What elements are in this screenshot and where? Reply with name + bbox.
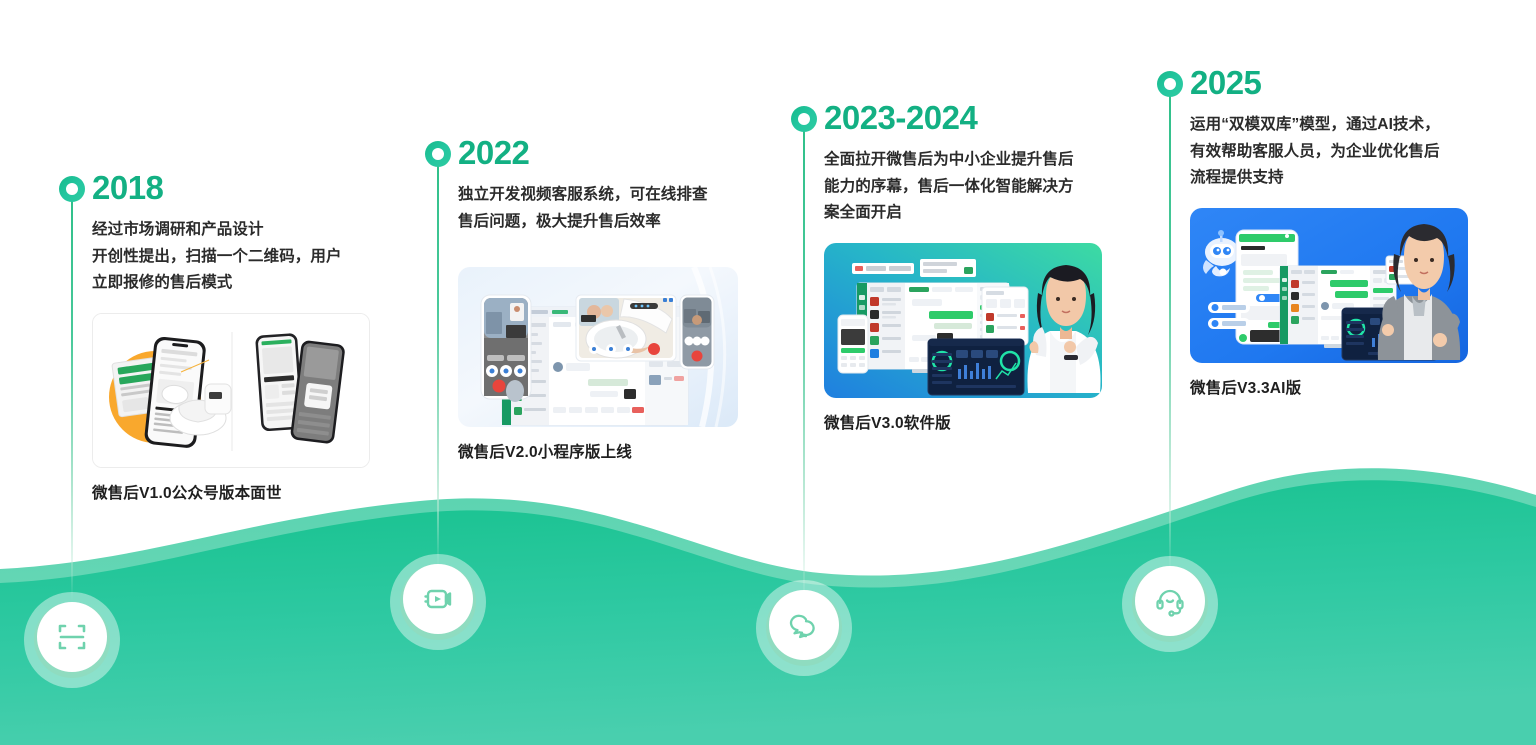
desc-line: 全面拉开微售后为中小企业提升售后 [824, 147, 1114, 174]
bottom-icon-video[interactable] [400, 564, 476, 640]
desc-line: 流程提供支持 [1190, 165, 1480, 192]
desc-line: 经过市场调研和产品设计 [92, 217, 382, 244]
timeline-marker-2025[interactable] [1157, 71, 1183, 97]
desc-line: 开创性提出，扫描一个二维码，用户 [92, 244, 382, 271]
milestone-2025: 2025 运用“双模双库”模型，通过AI技术， 有效帮助客服人员，为企业优化售后… [1190, 66, 1480, 398]
desc-line: 独立开发视频客服系统，可在线排查 [458, 182, 748, 209]
milestone-image-2022[interactable] [458, 267, 738, 427]
icon-disc [769, 590, 839, 660]
chat-bubbles-icon [787, 608, 821, 642]
milestone-year: 2025 [1190, 66, 1480, 99]
desc-line: 能力的序幕，售后一体化智能解决方 [824, 174, 1114, 201]
desc-line: 有效帮助客服人员，为企业优化售后 [1190, 139, 1480, 166]
icon-disc [1135, 566, 1205, 636]
milestone-caption: 微售后V3.0软件版 [824, 411, 1114, 433]
milestone-image-2018[interactable] [92, 313, 370, 468]
bottom-icon-scan[interactable] [34, 602, 110, 678]
timeline-connector-2022 [437, 161, 439, 569]
bottom-icon-chat[interactable] [766, 590, 842, 666]
timeline-marker-2018[interactable] [59, 176, 85, 202]
milestone-2022: 2022 独立开发视频客服系统，可在线排查 售后问题，极大提升售后效率 [458, 136, 748, 462]
milestone-description: 经过市场调研和产品设计 开创性提出，扫描一个二维码，用户 立即报修的售后模式 [92, 217, 382, 297]
scan-icon [55, 620, 89, 654]
milestone-year: 2018 [92, 171, 382, 204]
milestone-description: 全面拉开微售后为中小企业提升售后 能力的序幕，售后一体化智能解决方 案全面开启 [824, 147, 1114, 227]
desc-line: 立即报修的售后模式 [92, 270, 382, 297]
video-camera-icon [421, 582, 455, 616]
timeline-infographic: 2018 经过市场调研和产品设计 开创性提出，扫描一个二维码，用户 立即报修的售… [0, 0, 1536, 745]
desc-line: 案全面开启 [824, 200, 1114, 227]
desc-line: 售后问题，极大提升售后效率 [458, 209, 748, 236]
milestone-2018: 2018 经过市场调研和产品设计 开创性提出，扫描一个二维码，用户 立即报修的售… [92, 171, 382, 503]
timeline-marker-2023[interactable] [791, 106, 817, 132]
milestone-caption: 微售后V1.0公众号版本面世 [92, 481, 382, 503]
icon-disc [403, 564, 473, 634]
desc-line: 运用“双模双库”模型，通过AI技术， [1190, 112, 1480, 139]
milestone-image-2023[interactable] [824, 243, 1102, 398]
timeline-connector-2018 [71, 196, 73, 601]
milestone-year: 2022 [458, 136, 748, 169]
milestone-2023-2024: 2023-2024 全面拉开微售后为中小企业提升售后 能力的序幕，售后一体化智能… [824, 101, 1114, 433]
milestone-caption: 微售后V2.0小程序版上线 [458, 440, 748, 462]
milestone-image-2025[interactable] [1190, 208, 1468, 363]
milestone-caption: 微售后V3.3AI版 [1190, 376, 1480, 398]
timeline-marker-2022[interactable] [425, 141, 451, 167]
headset-support-icon [1153, 584, 1187, 618]
icon-disc [37, 602, 107, 672]
bottom-icon-support[interactable] [1132, 566, 1208, 642]
timeline-connector-2023 [803, 126, 805, 606]
timeline-connector-2025 [1169, 91, 1171, 575]
milestone-description: 运用“双模双库”模型，通过AI技术， 有效帮助客服人员，为企业优化售后 流程提供… [1190, 112, 1480, 192]
milestone-description: 独立开发视频客服系统，可在线排查 售后问题，极大提升售后效率 [458, 182, 748, 235]
milestone-year: 2023-2024 [824, 101, 1114, 134]
